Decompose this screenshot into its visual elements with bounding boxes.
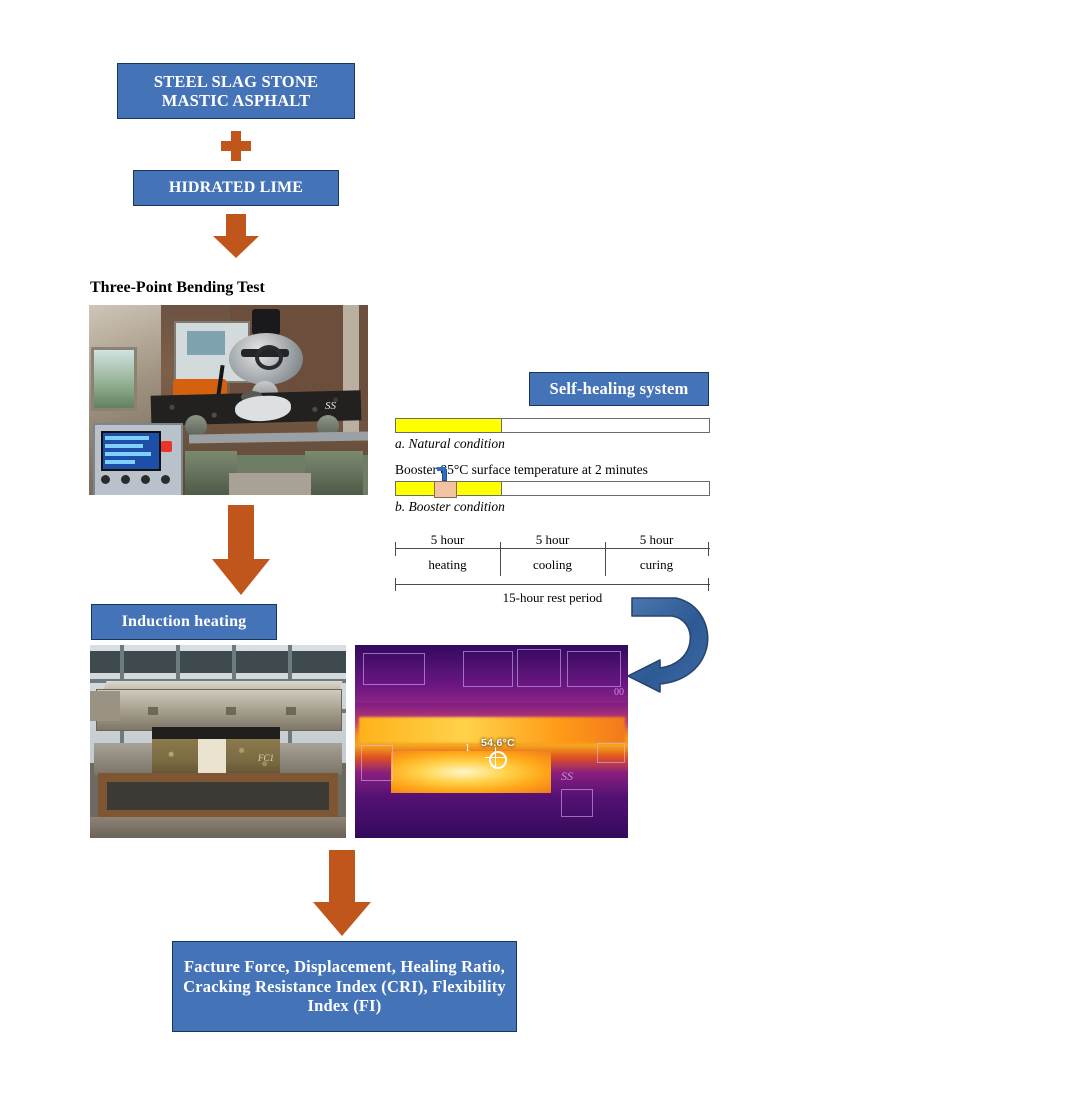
plus-icon xyxy=(221,131,251,161)
timeline-duration-2: 5 hour xyxy=(500,532,605,548)
caption-three-point-bending-test: Three-Point Bending Test xyxy=(90,279,265,297)
photo-bending-test: SS xyxy=(89,305,368,495)
bar-natural-condition xyxy=(395,418,710,433)
down-arrow-icon-to-results xyxy=(313,850,371,936)
down-arrow-icon-to-bending-test xyxy=(213,214,259,258)
timeline-phase-1: heating xyxy=(395,557,500,573)
thermal-measure-reticle-icon xyxy=(489,751,507,769)
thermal-marker-label: 1 xyxy=(465,743,470,754)
down-arrow-icon-to-induction-heating xyxy=(212,505,270,595)
caption-natural-condition: a. Natural condition xyxy=(395,436,710,452)
specimen-label-bending: SS xyxy=(325,400,336,412)
process-box-self-healing-system: Self-healing system xyxy=(529,372,709,406)
process-box-induction-heating: Induction heating xyxy=(91,604,277,640)
bar-booster-condition xyxy=(395,481,710,496)
timeline-phase-2: cooling xyxy=(500,557,605,573)
thermal-specimen-label: SS xyxy=(561,769,573,784)
thermal-overlay-number: 00 xyxy=(614,687,624,698)
timeline-duration-1: 5 hour xyxy=(395,532,500,548)
timeline-phase-3: curing xyxy=(605,557,708,573)
caption-booster-condition: b. Booster condition xyxy=(395,499,710,515)
photo-thermal-image: 00 1 54.6°C SS xyxy=(355,645,628,838)
timeline-duration-3: 5 hour xyxy=(605,532,708,548)
thermal-temperature-readout: 54.6°C xyxy=(481,737,515,749)
process-box-feedstock: STEEL SLAG STONE MASTIC ASPHALT xyxy=(117,63,355,119)
specimen-label-induction: FC1 xyxy=(258,753,274,763)
self-healing-panel: a. Natural condition Booster 85°C surfac… xyxy=(395,418,710,515)
flowchart-canvas: STEEL SLAG STONE MASTIC ASPHALT HIDRATED… xyxy=(0,0,1091,1100)
process-box-hidrated-lime: HIDRATED LIME xyxy=(133,170,339,206)
process-box-results: Facture Force, Displacement, Healing Rat… xyxy=(172,941,517,1032)
photo-induction-heating: FC1 xyxy=(90,645,346,838)
